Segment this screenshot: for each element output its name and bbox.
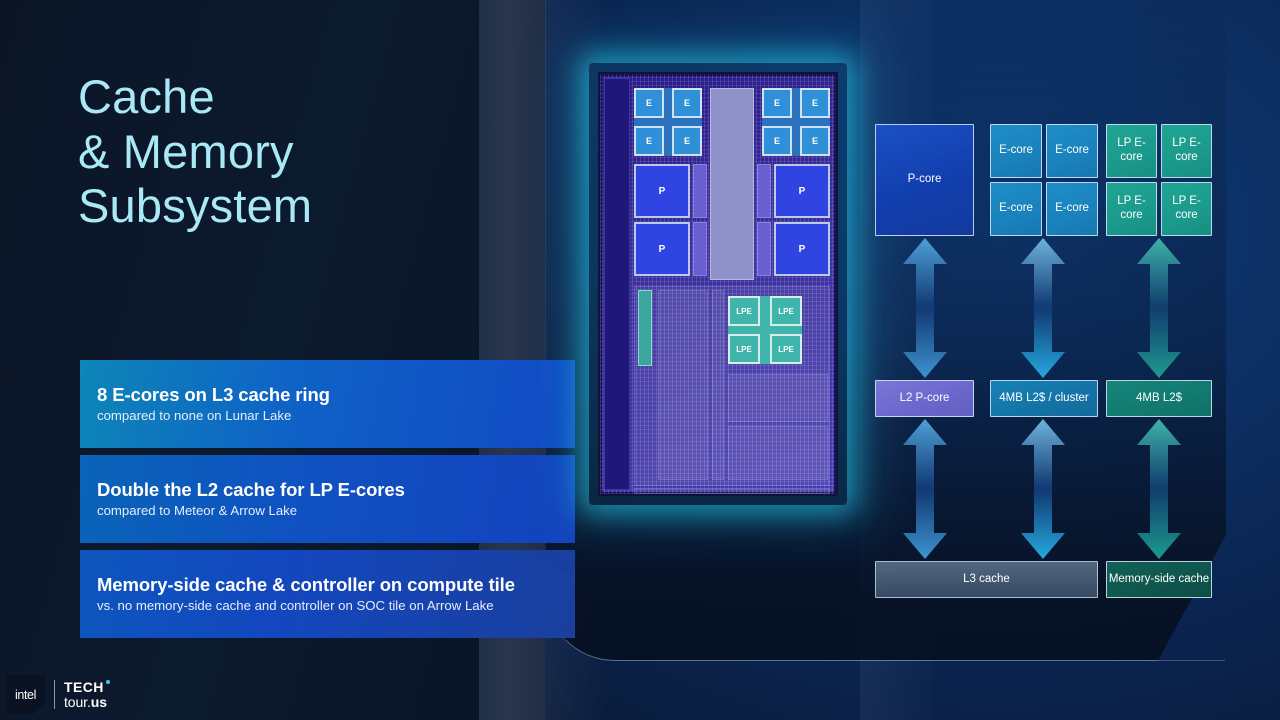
footer-logos: intel TECH tour.us xyxy=(6,675,110,714)
tech-tour-dot-icon xyxy=(106,680,110,684)
die-shot: E E E E E E E E P P P P xyxy=(598,72,838,496)
die-uncore-block xyxy=(658,290,708,480)
die-e-quad-crossbar xyxy=(664,88,672,156)
feature-card-subtitle: vs. no memory-side cache and controller … xyxy=(97,598,575,614)
die-l3-cache-column xyxy=(710,88,754,280)
intel-logo-text: intel xyxy=(15,688,36,702)
die-e-core: E xyxy=(800,88,830,118)
die-lpe-core: LPE xyxy=(770,296,802,326)
die-memory-side-cache-strip xyxy=(638,290,652,366)
die-e-core: E xyxy=(762,88,792,118)
intel-logo: intel xyxy=(6,675,45,714)
slide-root: Cache & Memory Subsystem 8 E-cores on L3… xyxy=(0,0,1280,720)
die-uncore-block xyxy=(712,290,724,480)
arrow-lp-e-core-to-l2 xyxy=(1137,238,1181,378)
die-e-core: E xyxy=(634,88,664,118)
die-p-core-l2-strip xyxy=(693,222,707,276)
die-p-core: P xyxy=(774,222,830,276)
page-title: Cache & Memory Subsystem xyxy=(78,70,498,234)
arrow-l2-to-l3 xyxy=(903,419,947,559)
diagram-l2-lp-box[interactable]: 4MB L2$ xyxy=(1106,380,1212,417)
arrow-l2-cluster-to-l3 xyxy=(1021,419,1065,559)
tech-tour-us-text: us xyxy=(91,694,107,710)
die-left-io-strip xyxy=(604,78,630,490)
page-title-line-1: Cache xyxy=(78,70,498,125)
die-p-core-l2-strip xyxy=(693,164,707,218)
tech-tour-logo: TECH tour.us xyxy=(54,680,110,709)
diagram-e-core-box[interactable]: E-core xyxy=(1046,124,1098,178)
die-e-core: E xyxy=(634,126,664,156)
die-e-core: E xyxy=(762,126,792,156)
die-lpe-core: LPE xyxy=(770,334,802,364)
tech-tour-tech-text: TECH xyxy=(64,679,104,695)
page-title-line-3: Subsystem xyxy=(78,179,498,234)
diagram-l2-cluster-box[interactable]: 4MB L2$ / cluster xyxy=(990,380,1098,417)
page-title-line-2: & Memory xyxy=(78,125,498,180)
diagram-e-core-box[interactable]: E-core xyxy=(990,182,1042,236)
feature-card[interactable]: 8 E-cores on L3 cache ring compared to n… xyxy=(80,360,575,448)
die-lpe-core: LPE xyxy=(728,334,760,364)
diagram-lp-e-core-box[interactable]: LP E-core xyxy=(1106,182,1157,236)
diagram-lp-e-core-box[interactable]: LP E-core xyxy=(1106,124,1157,178)
feature-card-title: 8 E-cores on L3 cache ring xyxy=(97,384,575,405)
feature-card[interactable]: Double the L2 cache for LP E-cores compa… xyxy=(80,455,575,543)
cache-hierarchy-diagram: P-core E-core E-core E-core E-core LP E-… xyxy=(875,124,1210,602)
arrow-p-core-to-l2 xyxy=(903,238,947,378)
tech-tour-tour-text: tour. xyxy=(64,694,91,710)
diagram-memory-side-cache-box[interactable]: Memory-side cache xyxy=(1106,561,1212,598)
die-e-core: E xyxy=(672,126,702,156)
feature-card-subtitle: compared to none on Lunar Lake xyxy=(97,408,575,424)
arrow-l2-to-memory-side-cache xyxy=(1137,419,1181,559)
tech-tour-logo-line-2: tour.us xyxy=(64,695,110,709)
feature-card-title: Memory-side cache & controller on comput… xyxy=(97,574,575,595)
die-p-core: P xyxy=(774,164,830,218)
feature-card-title: Double the L2 cache for LP E-cores xyxy=(97,479,575,500)
die-e-core: E xyxy=(800,126,830,156)
diagram-lp-e-core-box[interactable]: LP E-core xyxy=(1161,182,1212,236)
diagram-e-core-box[interactable]: E-core xyxy=(1046,182,1098,236)
die-shot-frame: E E E E E E E E P P P P xyxy=(598,72,838,496)
diagram-l2-p-core-box[interactable]: L2 P-core xyxy=(875,380,974,417)
die-p-core-l2-strip xyxy=(757,164,771,218)
die-p-core-l2-strip xyxy=(757,222,771,276)
diagram-lp-e-core-box[interactable]: LP E-core xyxy=(1161,124,1212,178)
diagram-e-core-box[interactable]: E-core xyxy=(990,124,1042,178)
arrow-e-core-to-l2 xyxy=(1021,238,1065,378)
die-p-core: P xyxy=(634,164,690,218)
die-e-quad-crossbar xyxy=(792,88,800,156)
die-lpe-quad-crossbar xyxy=(760,296,770,364)
feature-card[interactable]: Memory-side cache & controller on comput… xyxy=(80,550,575,638)
die-lpe-core: LPE xyxy=(728,296,760,326)
die-uncore-block xyxy=(728,426,828,480)
diagram-l3-cache-box[interactable]: L3 cache xyxy=(875,561,1098,598)
die-bottom-io-strip xyxy=(634,488,830,494)
feature-card-list: 8 E-cores on L3 cache ring compared to n… xyxy=(80,360,575,645)
die-uncore-block xyxy=(728,374,828,422)
die-e-core: E xyxy=(672,88,702,118)
die-p-core: P xyxy=(634,222,690,276)
tech-tour-logo-line-1: TECH xyxy=(64,680,110,694)
feature-card-subtitle: compared to Meteor & Arrow Lake xyxy=(97,503,575,519)
diagram-p-core-box[interactable]: P-core xyxy=(875,124,974,236)
